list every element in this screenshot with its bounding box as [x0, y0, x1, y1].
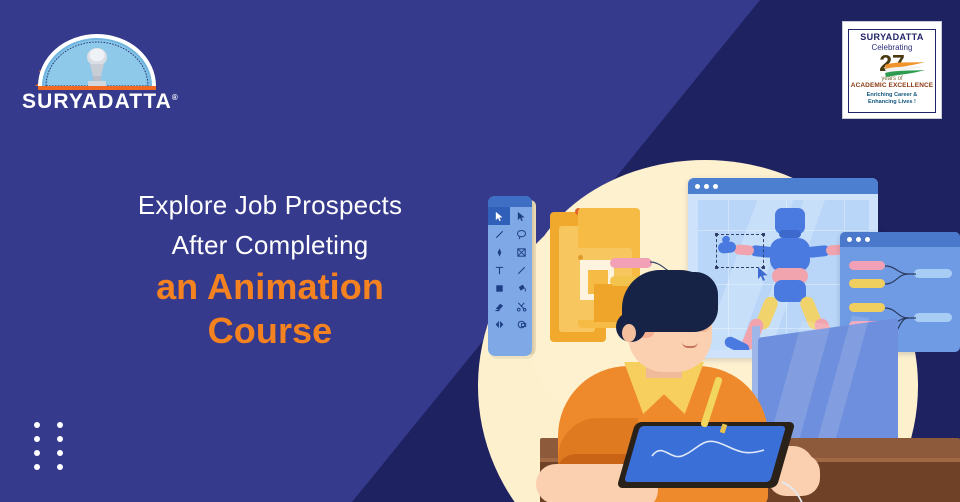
eraser-icon[interactable] — [488, 297, 510, 315]
traffic-light-dot[interactable] — [856, 237, 861, 242]
badge-tagline-line2: Enhancing Lives ! — [868, 99, 916, 105]
window-title-bar — [840, 232, 960, 247]
dot — [57, 436, 63, 442]
traffic-light-dot[interactable] — [847, 237, 852, 242]
dot — [34, 450, 40, 456]
mirror-icon[interactable] — [488, 315, 510, 333]
headline-line-2: After Completing — [60, 226, 480, 266]
fill-square-icon[interactable] — [488, 279, 510, 297]
scissors-icon[interactable] — [510, 297, 532, 315]
badge-tagline-line1: Enriching Career & — [867, 92, 918, 98]
badge-inner-frame: SURYADATTA Celebrating 27 years of ACADE… — [848, 29, 936, 113]
badge-tagline: Enriching Career & Enhancing Lives ! — [867, 92, 918, 107]
lasso-icon[interactable] — [510, 225, 532, 243]
dot — [57, 464, 63, 470]
node-pill-pink-1 — [849, 261, 885, 270]
badge-title: SURYADATTA — [860, 33, 924, 42]
rig-neck — [779, 230, 801, 238]
cursor-filled-icon[interactable] — [488, 207, 510, 225]
headline-accent-line-2: Course — [60, 309, 480, 353]
crop-box-icon[interactable] — [510, 243, 532, 261]
usb-cable — [690, 440, 840, 502]
node-pill-yellow-1 — [849, 279, 885, 288]
banner-canvas: SURYADATTA® SURYADATTA Celebrating 27 ye… — [0, 0, 960, 502]
traffic-light-dot[interactable] — [713, 184, 718, 189]
indian-tricolour-flag-icon — [883, 61, 927, 77]
badge-academic-label: ACADEMIC EXCELLENCE — [851, 83, 933, 90]
dot — [57, 450, 63, 456]
traffic-light-dot[interactable] — [865, 237, 870, 242]
rotate-icon[interactable] — [510, 315, 532, 333]
node-pill-yellow-2 — [849, 303, 885, 312]
text-tool-icon[interactable] — [488, 261, 510, 279]
diagonal-line-icon[interactable] — [510, 261, 532, 279]
line-icon[interactable] — [488, 225, 510, 243]
headline-block: Explore Job Prospects After Completing a… — [60, 186, 480, 353]
headline-accent-line-1: an Animation — [60, 265, 480, 309]
sunburst-trophy-emblem — [22, 26, 172, 96]
design-tool-palette[interactable] — [488, 196, 532, 356]
anniversary-badge[interactable]: SURYADATTA Celebrating 27 years of ACADE… — [843, 22, 941, 118]
logo-wordmark: SURYADATTA® — [22, 90, 172, 114]
dot — [34, 464, 40, 470]
dot — [34, 422, 40, 428]
character-hair-fringe — [644, 272, 718, 312]
bucket-icon[interactable] — [510, 279, 532, 297]
character-ear — [622, 324, 636, 342]
toolbar-icon-grid — [488, 207, 532, 333]
suryadatta-logo[interactable]: SURYADATTA® — [22, 26, 172, 118]
dot — [34, 436, 40, 442]
dot-grid-ornament — [34, 422, 68, 470]
cursor-outline-icon[interactable] — [510, 207, 532, 225]
toolbar-title-bar — [488, 196, 532, 207]
traffic-light-dot[interactable] — [704, 184, 709, 189]
window-title-bar — [688, 178, 878, 194]
animator-at-desk-illustration — [440, 140, 960, 502]
pen-nib-icon[interactable] — [488, 243, 510, 261]
headline-line-1: Explore Job Prospects — [60, 186, 480, 226]
registered-mark: ® — [172, 93, 179, 102]
dot — [57, 422, 63, 428]
traffic-light-dot[interactable] — [695, 184, 700, 189]
